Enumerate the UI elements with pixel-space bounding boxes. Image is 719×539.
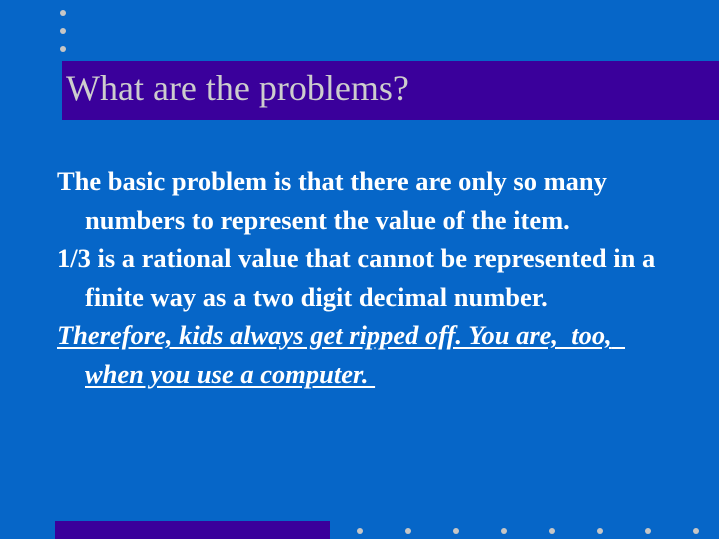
slide-title: What are the problems? [62,59,719,118]
slide-body: The basic problem is that there are only… [57,162,657,393]
decorative-dot-icon [645,528,651,534]
decorative-dot-icon [549,528,555,534]
top-dot-decoration [60,10,70,60]
decorative-dot-icon [405,528,411,534]
decorative-dot-icon [60,28,66,34]
slide-title-band: What are the problems? [62,61,719,120]
body-paragraph-emphasized: Therefore, kids always get ripped off. Y… [57,316,657,393]
body-paragraph: 1/3 is a rational value that cannot be r… [57,239,657,316]
presentation-slide: What are the problems? The basic problem… [0,0,719,539]
bottom-accent-bar [55,521,330,539]
decorative-dot-icon [501,528,507,534]
decorative-dot-icon [453,528,459,534]
body-paragraph: The basic problem is that there are only… [57,162,657,239]
decorative-dot-icon [60,10,66,16]
decorative-dot-icon [597,528,603,534]
decorative-dot-icon [60,46,66,52]
bottom-dot-decoration [357,528,719,536]
decorative-dot-icon [693,528,699,534]
decorative-dot-icon [357,528,363,534]
